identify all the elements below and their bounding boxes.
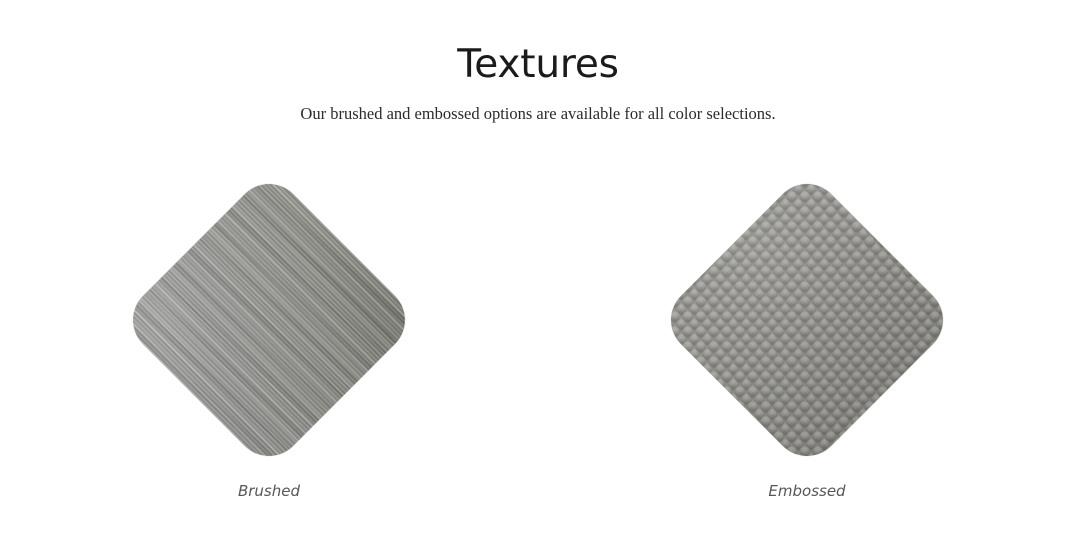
brushed-swatch-tile[interactable]	[119, 170, 419, 470]
embossed-texture-surface	[657, 170, 957, 470]
texture-swatch-embossed[interactable]: Embossed	[538, 160, 1076, 540]
page-header: Textures Our brushed and embossed option…	[0, 0, 1076, 124]
textures-page: Textures Our brushed and embossed option…	[0, 0, 1076, 547]
page-subtitle: Our brushed and embossed options are ava…	[0, 88, 1076, 124]
brushed-swatch-label: Brushed	[0, 482, 538, 500]
embossed-swatch-tile[interactable]	[657, 170, 957, 470]
texture-swatch-row: Brushed Embossed	[0, 160, 1076, 540]
brushed-swatch-wrapper[interactable]	[119, 170, 419, 470]
texture-swatch-brushed[interactable]: Brushed	[0, 160, 538, 540]
embossed-swatch-wrapper[interactable]	[657, 170, 957, 470]
embossed-swatch-label: Embossed	[538, 482, 1076, 500]
page-title: Textures	[0, 0, 1076, 88]
brushed-texture-surface	[119, 170, 419, 470]
embossed-dot-pattern	[657, 170, 957, 470]
